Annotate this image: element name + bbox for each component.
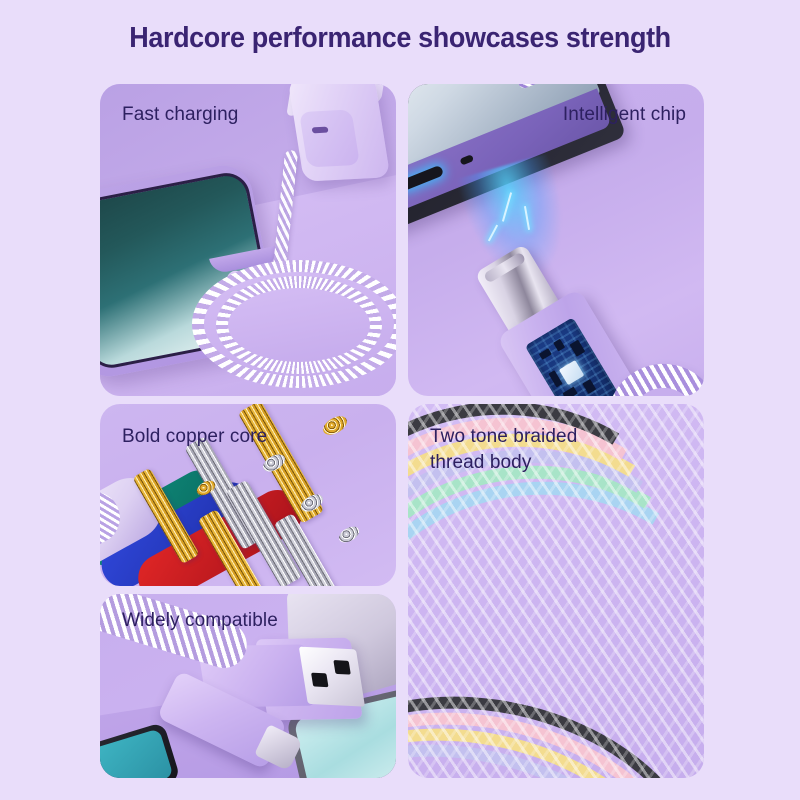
panel-copper-core[interactable]: Bold copper core [100,404,396,586]
pcb-component [599,395,610,396]
panel-label-widely-compatible: Widely compatible [122,608,278,634]
charger-port [312,127,329,134]
silver-bundle-cap-3 [336,523,362,545]
braided-cable-coil-inner [216,276,382,374]
pcb-component [539,348,552,360]
page-title: Hardcore performance showcases strength [28,22,772,55]
transparent-chip-window [525,317,627,396]
panel-label-copper-core: Bold copper core [122,424,267,450]
main-chip-icon [559,360,585,385]
copper-bundle-cap [320,413,350,439]
panel-widely-compatible[interactable]: Widely compatible [100,594,396,778]
panel-label-intelligent-chip: Intelligent chip [563,102,686,128]
usb-a-connector [255,638,363,721]
wall-charger [288,84,391,182]
panel-intelligent-chip[interactable]: Intelligent chip [408,84,704,396]
pcb-component [562,387,577,396]
usb-a-contact-face [299,647,365,707]
pcb-component [553,339,565,352]
speaker-grille-right [459,154,474,165]
panel-label-fast-charging: Fast charging [122,102,238,128]
panel-braided-body[interactable]: Two tone braided thread body [408,404,704,778]
pcb-component [582,379,596,394]
charger-front-face [299,109,360,167]
pcb-component [569,340,585,357]
panel-fast-charging[interactable]: Fast charging [100,84,396,396]
usb-a-slot-right [333,660,350,675]
usb-a-slot-left [311,673,328,688]
phone-charging-port [408,165,444,192]
panel-label-braided-body: Two tone braided thread body [430,424,577,476]
